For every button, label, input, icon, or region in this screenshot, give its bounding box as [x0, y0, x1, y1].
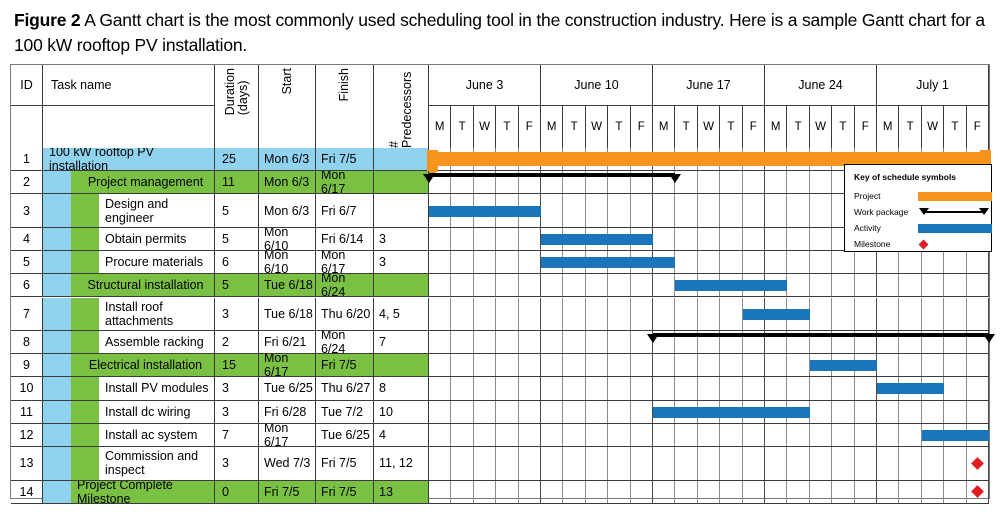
day-header-w4-d5: F: [855, 106, 877, 148]
gantt-cell: [855, 251, 877, 273]
table-row[interactable]: 13Commission and inspect3Wed 7/3Fri 7/51…: [11, 447, 989, 481]
cell-finish: Mon 6/24: [316, 274, 374, 296]
task-name-label: Project management: [71, 171, 214, 193]
gantt-cell: [519, 228, 541, 250]
gantt-cell: [563, 424, 585, 446]
indent-level1-marker: [71, 194, 99, 227]
gantt-cell: [944, 251, 966, 273]
cell-id: 8: [11, 331, 43, 353]
cell-duration: 5: [215, 274, 259, 296]
gantt-cell: [519, 331, 541, 353]
gantt-cell: [429, 298, 451, 331]
table-row[interactable]: 9Electrical installation15Mon 6/17Fri 7/…: [11, 354, 989, 377]
gantt-cell: [877, 298, 899, 331]
gantt-cell: [899, 251, 921, 273]
table-row[interactable]: 2Project management11Mon 6/3Mon 6/17: [11, 171, 989, 194]
task-name-label: Project Complete Milestone: [71, 481, 214, 503]
gantt-cell: [967, 298, 989, 331]
gantt-cell: [563, 481, 585, 503]
gantt-cell: [631, 481, 653, 503]
cell-finish: Fri 7/5: [316, 148, 374, 170]
cell-finish: Fri 7/5: [316, 447, 374, 480]
activity-bar: [810, 360, 877, 371]
activity-bar: [541, 234, 653, 245]
gantt-cell: [429, 481, 451, 503]
day-header-w3-d5: F: [743, 106, 765, 148]
column-header-predecessors: # Predecessors: [374, 65, 429, 148]
gantt-cell: [765, 194, 787, 227]
gantt-cell: [429, 424, 451, 446]
gantt-cell: [810, 481, 832, 503]
gantt-cell: [451, 424, 473, 446]
gantt-cell: [429, 331, 451, 353]
gantt-cell: [586, 194, 608, 227]
cell-start: Fri 6/21: [259, 331, 316, 353]
cell-predecessors: 3: [374, 228, 429, 250]
gantt-cell: [608, 331, 630, 353]
gantt-cell: [541, 447, 563, 480]
gantt-cell: [541, 298, 563, 331]
gantt-cell: [474, 274, 496, 296]
cell-start: Fri 7/5: [259, 481, 316, 503]
gantt-cell: [496, 377, 518, 399]
gantt-cell: [787, 274, 809, 296]
gantt-cell: [474, 424, 496, 446]
gantt-cell: [563, 447, 585, 480]
gantt-chart: ID Task name Duration (days) Start Finis…: [10, 64, 990, 499]
gantt-cell: [810, 298, 832, 331]
gantt-cell: [474, 331, 496, 353]
gantt-cell: [496, 298, 518, 331]
indent-level1-marker: [71, 298, 99, 331]
column-header-task-name: Task name: [43, 65, 215, 106]
gantt-cell: [474, 251, 496, 273]
gantt-cell: [765, 354, 787, 376]
gantt-cell: [519, 354, 541, 376]
cell-duration: 25: [215, 148, 259, 170]
gantt-cell: [765, 424, 787, 446]
gantt-cell: [899, 447, 921, 480]
cell-predecessors: [374, 148, 429, 170]
gantt-cell: [810, 194, 832, 227]
gantt-cell: [586, 481, 608, 503]
cell-duration: 3: [215, 377, 259, 399]
gantt-cell: [675, 354, 697, 376]
cell-predecessors: [374, 274, 429, 296]
gantt-cell: [451, 377, 473, 399]
gantt-cell: [922, 401, 944, 423]
gantt-cell: [832, 377, 854, 399]
gantt-cell: [429, 251, 451, 273]
gantt-cell: [720, 228, 742, 250]
gantt-cell: [944, 274, 966, 296]
gantt-cell: [743, 251, 765, 273]
task-name-label: Install PV modules: [99, 377, 214, 399]
gantt-cell: [720, 481, 742, 503]
gantt-cell: [451, 251, 473, 273]
week-header-june-24: June 24: [765, 65, 877, 106]
work-package-line-icon: [924, 211, 986, 214]
cell-finish: Tue 7/2: [316, 401, 374, 423]
day-header-w2-d4: T: [608, 106, 630, 148]
gantt-cell: [563, 331, 585, 353]
gantt-cell: [698, 228, 720, 250]
gantt-cell: [675, 424, 697, 446]
legend-item-label: Activity: [854, 223, 918, 233]
indent-level0-marker: [43, 377, 71, 399]
cell-start: Mon 6/17: [259, 424, 316, 446]
indent-level0-marker: [43, 424, 71, 446]
cell-finish: Mon 6/24: [316, 331, 374, 353]
week-header-june-3: June 3: [429, 65, 541, 106]
gantt-cell: [563, 354, 585, 376]
indent-level0-marker: [43, 354, 71, 376]
gantt-cell: [899, 354, 921, 376]
gantt-cell: [832, 481, 854, 503]
gantt-cell: [855, 447, 877, 480]
cell-id: 10: [11, 377, 43, 399]
gantt-cell: [474, 481, 496, 503]
day-header-w3-d2: T: [675, 106, 697, 148]
cell-start: Tue 6/18: [259, 298, 316, 331]
gantt-cell: [877, 481, 899, 503]
table-row[interactable]: 10Install PV modules3Tue 6/25Thu 6/278: [11, 377, 989, 400]
task-name-label: 100 kW rooftop PV installation: [43, 148, 214, 170]
gantt-cell: [653, 274, 675, 296]
gantt-cell: [877, 424, 899, 446]
indent-level1-marker: [71, 251, 99, 273]
cell-id: 6: [11, 274, 43, 296]
gantt-cell: [922, 298, 944, 331]
gantt-cell: [855, 424, 877, 446]
gantt-cell: [855, 274, 877, 296]
gantt-cell: [586, 447, 608, 480]
gantt-cell: [899, 298, 921, 331]
gantt-cell: [720, 194, 742, 227]
cell-task-name: Assemble racking: [43, 331, 215, 353]
gantt-cell: [653, 194, 675, 227]
cell-id: 11: [11, 401, 43, 423]
gantt-cell: [787, 377, 809, 399]
cell-start: Fri 6/28: [259, 401, 316, 423]
gantt-cell: [496, 401, 518, 423]
gantt-cell: [496, 424, 518, 446]
gantt-cell: [787, 194, 809, 227]
gantt-cell: [474, 401, 496, 423]
legend-item-project-bar: Project: [854, 188, 982, 204]
indent-level0-marker: [43, 228, 71, 250]
cell-finish: Fri 7/5: [316, 354, 374, 376]
cell-task-name: Install ac system: [43, 424, 215, 446]
work-package-cap-icon-left: [919, 208, 929, 215]
cell-start: Mon 6/3: [259, 148, 316, 170]
task-name-label: Procure materials: [99, 251, 214, 273]
gantt-cell: [720, 251, 742, 273]
cell-start: Mon 6/3: [259, 171, 316, 193]
gantt-cell: [429, 274, 451, 296]
gantt-cell: [944, 401, 966, 423]
week-header-june-17: June 17: [653, 65, 765, 106]
week-header-july-1: July 1: [877, 65, 989, 106]
cell-task-name: Project Complete Milestone: [43, 481, 215, 503]
gantt-cell: [563, 274, 585, 296]
gantt-cell: [944, 354, 966, 376]
gantt-cell: [608, 354, 630, 376]
legend-item-work-package-line: Work package: [854, 204, 982, 220]
cell-task-name: Obtain permits: [43, 228, 215, 250]
figure-label: Figure 2: [14, 10, 80, 30]
gantt-cell: [720, 377, 742, 399]
work-package-line: [653, 333, 989, 337]
gantt-cell: [541, 424, 563, 446]
work-package-cap-right: [983, 334, 995, 343]
table-row[interactable]: 11Install dc wiring3Fri 6/28Tue 7/210: [11, 401, 989, 424]
cell-duration: 7: [215, 424, 259, 446]
cell-finish: Thu 6/20: [316, 298, 374, 331]
cell-predecessors: [374, 354, 429, 376]
gantt-cell: [653, 481, 675, 503]
column-header-id-blank: [11, 106, 43, 148]
day-header-w5-d5: F: [967, 106, 989, 148]
cell-finish: Tue 6/25: [316, 424, 374, 446]
gantt-cell: [519, 251, 541, 273]
gantt-cell: [698, 354, 720, 376]
cell-task-name: 100 kW rooftop PV installation: [43, 148, 215, 170]
gantt-cell: [653, 228, 675, 250]
milestone-diamond-icon: [919, 240, 929, 250]
gantt-cell: [496, 251, 518, 273]
cell-finish: Mon 6/17: [316, 171, 374, 193]
indent-level1-marker: [71, 447, 99, 480]
gantt-cell: [429, 447, 451, 480]
gantt-cell: [832, 424, 854, 446]
work-package-cap-left: [423, 174, 435, 183]
gantt-cell: [810, 401, 832, 423]
day-header-w5-d2: T: [899, 106, 921, 148]
gantt-cell: [832, 298, 854, 331]
cell-duration: 3: [215, 401, 259, 423]
cell-id: 2: [11, 171, 43, 193]
cell-predecessors: 11, 12: [374, 447, 429, 480]
week-header-june-10: June 10: [541, 65, 653, 106]
gantt-cell: [743, 377, 765, 399]
column-header-start: Start: [259, 65, 316, 148]
indent-level0-marker: [43, 481, 71, 503]
legend-item-label: Milestone: [854, 239, 918, 249]
gantt-cell: [810, 424, 832, 446]
gantt-cell: [631, 447, 653, 480]
day-header-w1-d1: M: [429, 106, 451, 148]
gantt-cell: [922, 447, 944, 480]
project-bar-icon: [918, 192, 992, 201]
gantt-cell: [519, 377, 541, 399]
gantt-cell: [451, 447, 473, 480]
cell-finish: Thu 6/27: [316, 377, 374, 399]
work-package-cap-right: [669, 174, 681, 183]
cell-id: 14: [11, 481, 43, 503]
gantt-cell: [967, 251, 989, 273]
gantt-cell: [541, 377, 563, 399]
gantt-cell: [631, 401, 653, 423]
cell-start: Mon 6/10: [259, 251, 316, 273]
table-row[interactable]: 4Obtain permits5Mon 6/10Fri 6/143: [11, 228, 989, 251]
gantt-cell: [541, 274, 563, 296]
cell-predecessors: 4, 5: [374, 298, 429, 331]
gantt-header: ID Task name Duration (days) Start Finis…: [11, 65, 989, 148]
task-name-label: Design and engineer: [99, 194, 214, 227]
gantt-cell: [563, 401, 585, 423]
gantt-cell: [765, 447, 787, 480]
table-row[interactable]: 1100 kW rooftop PV installation25Mon 6/3…: [11, 148, 989, 171]
gantt-cell: [743, 194, 765, 227]
cell-task-name: Commission and inspect: [43, 447, 215, 480]
gantt-cell: [474, 447, 496, 480]
day-header-w2-d5: F: [631, 106, 653, 148]
day-header-w4-d2: T: [787, 106, 809, 148]
gantt-cell: [832, 251, 854, 273]
gantt-cell: [899, 401, 921, 423]
gantt-cell: [720, 447, 742, 480]
legend-title: Key of schedule symbols: [854, 172, 982, 182]
activity-bar: [877, 383, 944, 394]
table-row[interactable]: 8Assemble racking2Fri 6/21Mon 6/247: [11, 331, 989, 354]
gantt-cell: [720, 424, 742, 446]
gantt-cell: [698, 251, 720, 273]
cell-id: 3: [11, 194, 43, 227]
gantt-cell: [787, 251, 809, 273]
gantt-cell: [608, 447, 630, 480]
legend-item-symbol: [918, 220, 982, 236]
cell-predecessors: 8: [374, 377, 429, 399]
gantt-cell: [787, 447, 809, 480]
gantt-cell: [698, 194, 720, 227]
table-row[interactable]: 5Procure materials6Mon 6/10Mon 6/173: [11, 251, 989, 274]
gantt-cell: [810, 447, 832, 480]
cell-id: 9: [11, 354, 43, 376]
gantt-cell: [855, 377, 877, 399]
gantt-cell: [541, 401, 563, 423]
cell-task-name: Install PV modules: [43, 377, 215, 399]
day-header-w1-d3: W: [474, 106, 496, 148]
gantt-cell: [496, 228, 518, 250]
cell-duration: 0: [215, 481, 259, 503]
table-row[interactable]: 14Project Complete Milestone0Fri 7/5Fri …: [11, 481, 989, 504]
cell-duration: 3: [215, 298, 259, 331]
gantt-cell: [765, 481, 787, 503]
gantt-cell: [451, 481, 473, 503]
cell-predecessors: 13: [374, 481, 429, 503]
gantt-cell: [810, 171, 832, 193]
gantt-cell: [541, 481, 563, 503]
cell-task-name: Install roof attachments: [43, 298, 215, 331]
task-name-label: Install ac system: [99, 424, 214, 446]
task-name-label: Assemble racking: [99, 331, 214, 353]
cell-id: 5: [11, 251, 43, 273]
gantt-cell: [743, 228, 765, 250]
legend-items: ProjectWork packageActivityMilestone: [854, 188, 982, 252]
gantt-cell: [743, 171, 765, 193]
gantt-cell: [608, 377, 630, 399]
gantt-cell: [720, 171, 742, 193]
gantt-cell: [787, 481, 809, 503]
gantt-cell: [541, 331, 563, 353]
gantt-cell: [765, 377, 787, 399]
gantt-cell: [765, 171, 787, 193]
cell-start: Mon 6/17: [259, 354, 316, 376]
task-name-label: Obtain permits: [99, 228, 214, 250]
indent-level1-marker: [71, 228, 99, 250]
gantt-cell: [541, 354, 563, 376]
indent-level1-marker: [71, 401, 99, 423]
gantt-cell: [944, 481, 966, 503]
gantt-cell: [608, 481, 630, 503]
cell-start: Mon 6/3: [259, 194, 316, 227]
gantt-cell: [810, 251, 832, 273]
gantt-cell: [586, 298, 608, 331]
indent-level0-marker: [43, 298, 71, 331]
gantt-cell: [474, 298, 496, 331]
task-name-label: Install roof attachments: [99, 298, 214, 331]
gantt-cell: [899, 481, 921, 503]
table-row[interactable]: 6Structural installation5Tue 6/18Mon 6/2…: [11, 274, 989, 297]
day-header-w5-d4: T: [944, 106, 966, 148]
gantt-cell: [451, 298, 473, 331]
legend-item-symbol: [918, 188, 982, 204]
table-row[interactable]: 7Install roof attachments3Tue 6/18Thu 6/…: [11, 298, 989, 332]
gantt-cell: [608, 298, 630, 331]
cell-start: Tue 6/25: [259, 377, 316, 399]
gantt-cell: [810, 228, 832, 250]
gantt-cell: [631, 194, 653, 227]
gantt-cell: [698, 447, 720, 480]
gantt-body: 1100 kW rooftop PV installation25Mon 6/3…: [11, 148, 989, 498]
day-header-w3-d3: W: [698, 106, 720, 148]
gantt-cell: [429, 401, 451, 423]
task-name-label: Install dc wiring: [99, 401, 214, 423]
gantt-cell: [675, 228, 697, 250]
gantt-cell: [675, 377, 697, 399]
gantt-cell: [675, 194, 697, 227]
indent-level1-marker: [71, 377, 99, 399]
gantt-cell: [586, 424, 608, 446]
column-header-finish: Finish: [316, 65, 374, 148]
gantt-cell: [496, 331, 518, 353]
gantt-cell: [967, 401, 989, 423]
cell-predecessors: 4: [374, 424, 429, 446]
task-name-label: Electrical installation: [71, 354, 214, 376]
gantt-cell: [967, 377, 989, 399]
cell-start: Wed 7/3: [259, 447, 316, 480]
gantt-cell: [608, 274, 630, 296]
legend-item-symbol: [918, 236, 982, 252]
legend-item-activity-bar: Activity: [854, 220, 982, 236]
cell-duration: 6: [215, 251, 259, 273]
gantt-cell: [810, 274, 832, 296]
gantt-cell: [586, 354, 608, 376]
gantt-cell: [765, 251, 787, 273]
gantt-cell: [496, 447, 518, 480]
cell-task-name: Design and engineer: [43, 194, 215, 227]
gantt-cell: [698, 298, 720, 331]
table-row[interactable]: 3Design and engineer5Mon 6/3Fri 6/7: [11, 194, 989, 228]
gantt-cell: [675, 447, 697, 480]
gantt-cell: [631, 377, 653, 399]
gantt-cell: [451, 331, 473, 353]
gantt-cell: [653, 424, 675, 446]
gantt-cell: [631, 354, 653, 376]
legend-item-symbol: [918, 204, 982, 220]
table-row[interactable]: 12Install ac system7Mon 6/17Tue 6/254: [11, 424, 989, 447]
